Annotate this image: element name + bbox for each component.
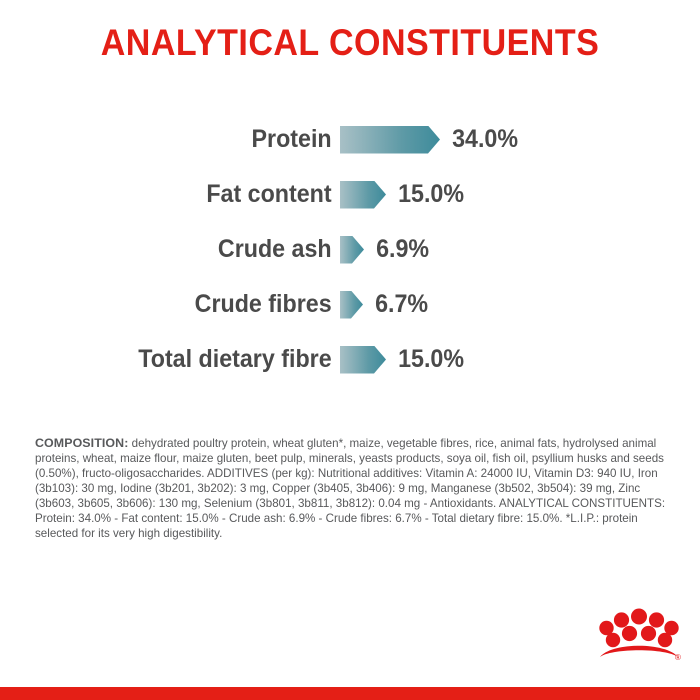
page-title: ANALYTICAL CONSTITUENTS bbox=[28, 24, 672, 61]
constituent-bar-wrap bbox=[340, 126, 440, 154]
constituent-label: Crude fibres bbox=[24, 290, 340, 319]
constituent-row: Total dietary fibre 15.0% bbox=[0, 332, 700, 387]
constituent-bar bbox=[340, 181, 386, 209]
constituent-bar bbox=[340, 236, 364, 264]
constituent-row: Crude ash 6.9% bbox=[0, 222, 700, 277]
constituent-value: 6.7% bbox=[363, 290, 428, 319]
constituent-bar-wrap bbox=[340, 346, 386, 374]
constituent-row: Protein 34.0% bbox=[0, 112, 700, 167]
constituent-value: 15.0% bbox=[386, 345, 464, 374]
constituent-label: Fat content bbox=[24, 180, 340, 209]
constituent-bar bbox=[340, 291, 363, 319]
analytical-constituents-chart: Protein 34.0% Fat content 15.0% Crude as… bbox=[0, 112, 700, 387]
constituent-value: 34.0% bbox=[440, 125, 518, 154]
constituent-label: Total dietary fibre bbox=[24, 345, 340, 374]
constituent-row: Fat content 15.0% bbox=[0, 167, 700, 222]
constituent-label: Protein bbox=[24, 125, 340, 154]
constituent-value: 15.0% bbox=[386, 180, 464, 209]
composition-heading: COMPOSITION: bbox=[35, 436, 128, 450]
bottom-accent-bar bbox=[0, 687, 700, 700]
royal-canin-crown-logo: ® bbox=[596, 604, 682, 666]
constituent-bar-wrap bbox=[340, 181, 386, 209]
constituent-bar bbox=[340, 126, 440, 154]
constituent-bar bbox=[340, 346, 386, 374]
composition-body: dehydrated poultry protein, wheat gluten… bbox=[35, 437, 665, 541]
constituent-value: 6.9% bbox=[364, 235, 429, 264]
constituent-label: Crude ash bbox=[24, 235, 340, 264]
constituent-bar-wrap bbox=[340, 291, 363, 319]
composition-paragraph: COMPOSITION: dehydrated poultry protein,… bbox=[35, 436, 667, 542]
constituent-bar-wrap bbox=[340, 236, 364, 264]
constituent-row: Crude fibres 6.7% bbox=[0, 277, 700, 332]
registered-mark: ® bbox=[675, 653, 681, 662]
